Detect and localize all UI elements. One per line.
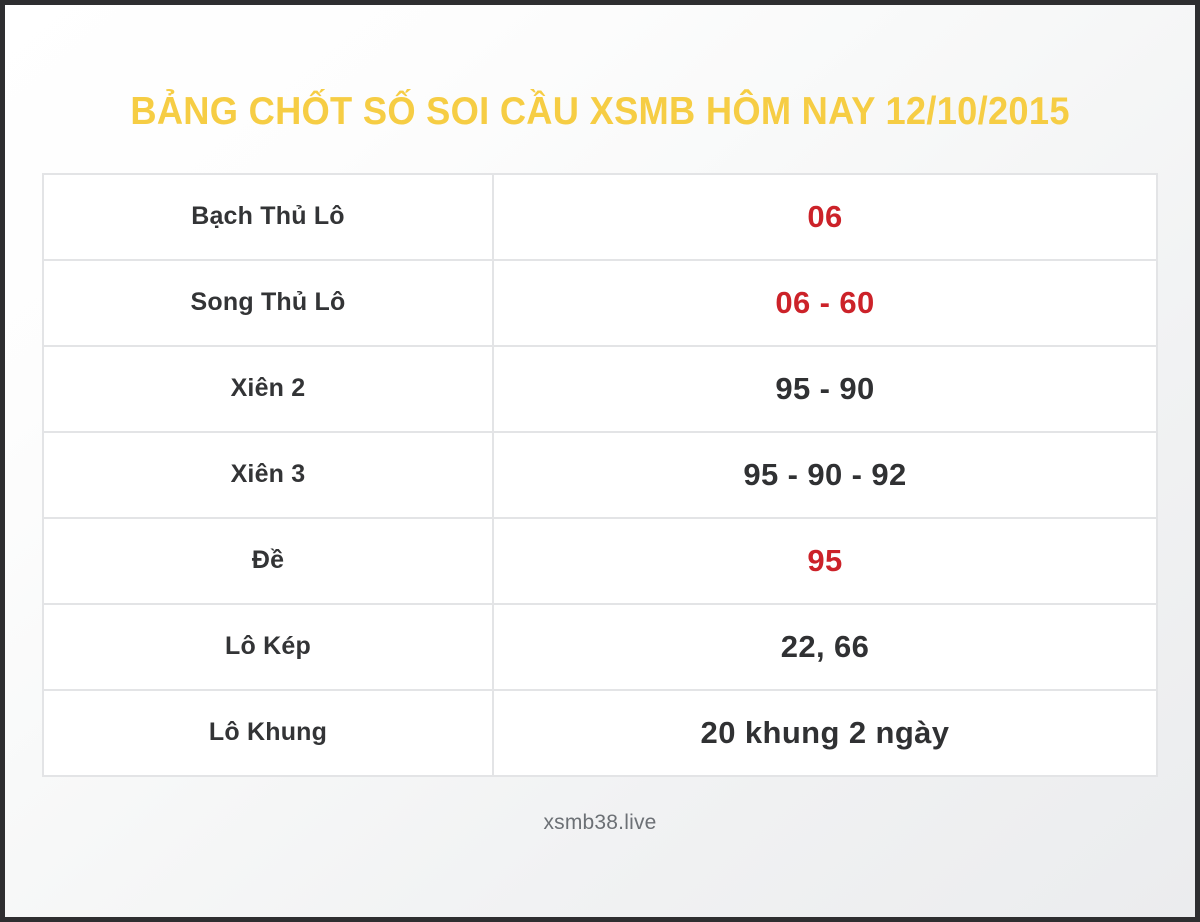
- row-label: Xiên 3: [43, 432, 493, 518]
- table-row: Lô Kép 22, 66: [43, 604, 1157, 690]
- row-label: Lô Khung: [43, 690, 493, 776]
- row-label: Lô Kép: [43, 604, 493, 690]
- row-label: Song Thủ Lô: [43, 260, 493, 346]
- row-value: 95 - 90: [493, 346, 1157, 432]
- site-watermark: xsmb38.live: [543, 811, 656, 834]
- row-label: Bạch Thủ Lô: [43, 174, 493, 260]
- board-table: Bạch Thủ Lô 06 Song Thủ Lô 06 - 60 Xiên …: [42, 173, 1158, 777]
- table-row: Lô Khung 20 khung 2 ngày: [43, 690, 1157, 776]
- page-title: BẢNG CHỐT SỐ SOI CẦU XSMB HÔM NAY 12/10/…: [130, 91, 1069, 134]
- row-value: 06 - 60: [493, 260, 1157, 346]
- table-row: Đề 95: [43, 518, 1157, 604]
- table-row: Bạch Thủ Lô 06: [43, 174, 1157, 260]
- row-value: 22, 66: [493, 604, 1157, 690]
- row-value: 20 khung 2 ngày: [493, 690, 1157, 776]
- table-row: Song Thủ Lô 06 - 60: [43, 260, 1157, 346]
- page-root: BẢNG CHỐT SỐ SOI CẦU XSMB HÔM NAY 12/10/…: [0, 0, 1200, 922]
- title-block: BẢNG CHỐT SỐ SOI CẦU XSMB HÔM NAY 12/10/…: [5, 91, 1195, 134]
- board-table-wrapper: Bạch Thủ Lô 06 Song Thủ Lô 06 - 60 Xiên …: [42, 173, 1158, 777]
- row-label: Đề: [43, 518, 493, 604]
- table-row: Xiên 3 95 - 90 - 92: [43, 432, 1157, 518]
- row-value: 06: [493, 174, 1157, 260]
- table-row: Xiên 2 95 - 90: [43, 346, 1157, 432]
- row-label: Xiên 2: [43, 346, 493, 432]
- footer: xsmb38.live: [5, 811, 1195, 835]
- board-table-body: Bạch Thủ Lô 06 Song Thủ Lô 06 - 60 Xiên …: [43, 174, 1157, 776]
- row-value: 95 - 90 - 92: [493, 432, 1157, 518]
- row-value: 95: [493, 518, 1157, 604]
